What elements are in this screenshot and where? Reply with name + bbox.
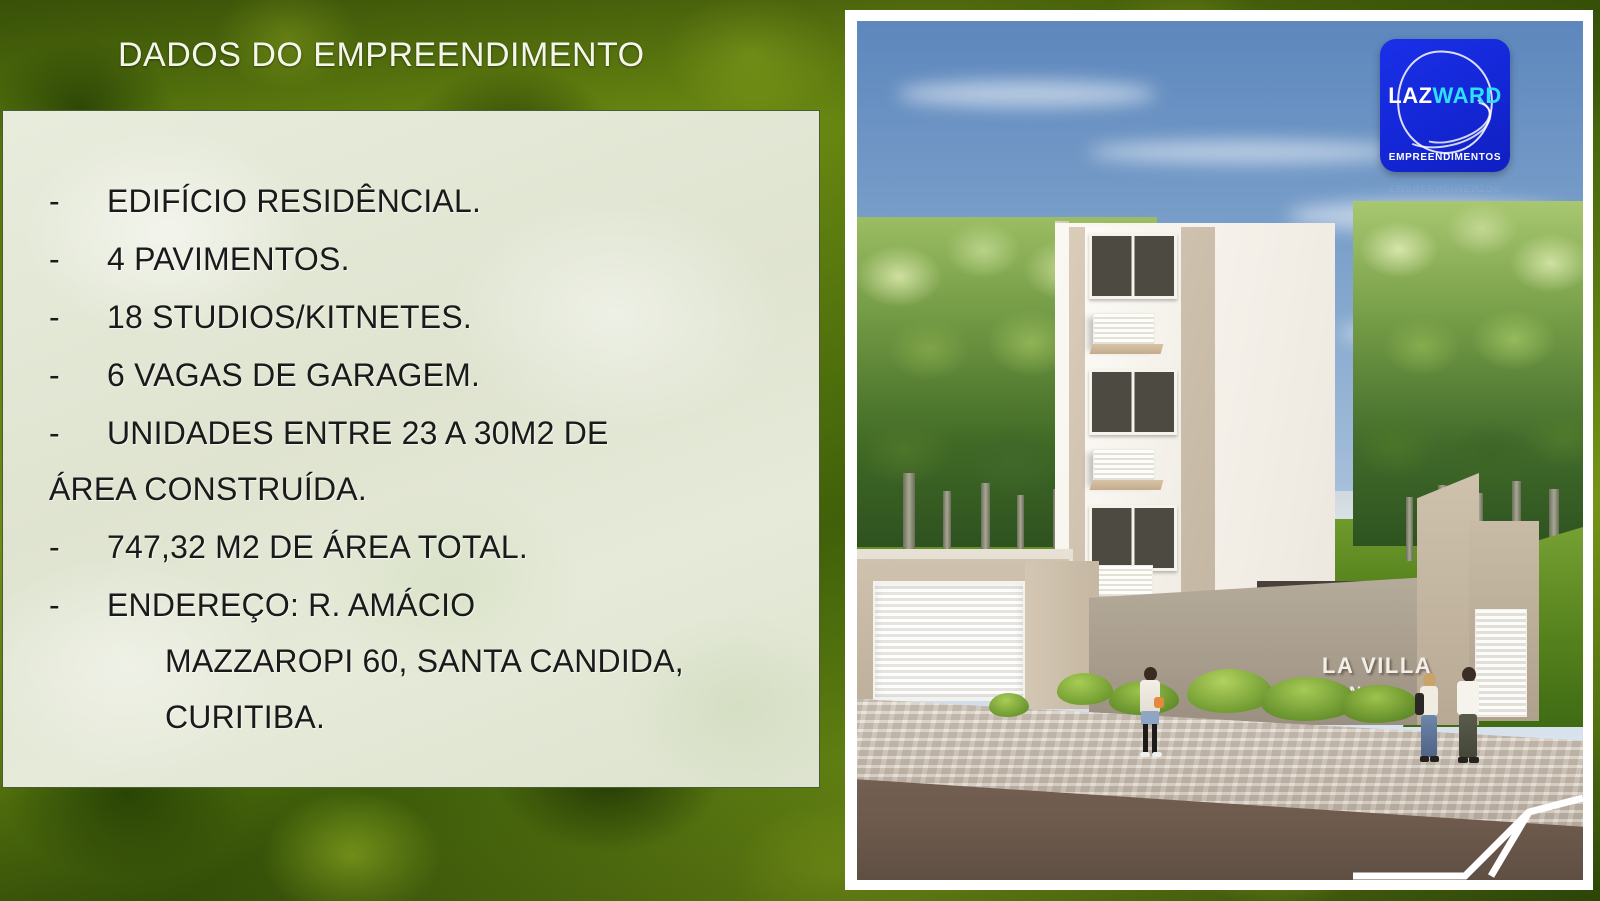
list-item: - 747,32 M2 DE ÁREA TOTAL.: [49, 531, 789, 563]
bullet-marker: -: [49, 243, 107, 275]
details-panel: - EDIFÍCIO RESIDÊNCIAL. - 4 PAVIMENTOS. …: [2, 110, 820, 788]
page-title: DADOS DO EMPREENDIMENTO: [118, 36, 645, 75]
person-bag: [1154, 697, 1164, 708]
tree-trunk: [903, 473, 915, 559]
bullet-marker: -: [49, 301, 107, 333]
tree-trunk: [1406, 497, 1413, 561]
awning-floor4: [1093, 313, 1155, 347]
person-shoe: [1152, 752, 1162, 757]
bullet-text: 6 VAGAS DE GARAGEM.: [107, 359, 789, 391]
bullet-text: UNIDADES ENTRE 23 A 30M2 DE: [107, 415, 609, 451]
garage-door[interactable]: [873, 581, 1025, 701]
bullet-text: 4 PAVIMENTOS.: [107, 243, 789, 275]
awning-floor3: [1093, 449, 1155, 483]
render-scene: LA VILLA N 60: [857, 21, 1583, 880]
shrub: [1187, 669, 1273, 713]
tree-trunk: [981, 483, 990, 559]
list-item: - 4 PAVIMENTOS.: [49, 243, 789, 275]
project-render-image: LA VILLA N 60: [845, 10, 1593, 890]
bullet-text: EDIFÍCIO RESIDÊNCIAL.: [107, 185, 789, 217]
person-shorts: [1141, 711, 1159, 725]
bullet-marker: -: [49, 531, 107, 563]
logo-reflection-text: EMPREENDIMENTOS: [1380, 182, 1510, 193]
logo-text-laz: LAZ: [1388, 83, 1432, 108]
building-name-sign: LA VILLA: [1322, 653, 1432, 679]
shrub: [989, 693, 1029, 717]
bullet-text-line2: ÁREA CONSTRUÍDA.: [49, 473, 789, 505]
window-floor4: [1089, 233, 1177, 299]
cloud: [1087, 141, 1407, 163]
list-item: - ENDEREÇO: R. AMÁCIO MAZZAROPI 60, SANT…: [49, 589, 789, 733]
bullet-text-line2: MAZZAROPI 60, SANTA CANDIDA,: [107, 645, 789, 677]
person-leg: [1143, 724, 1148, 754]
bullet-text-line3: CURITIBA.: [107, 701, 789, 733]
lazward-logo: LAZWARD EMPREENDIMENTOS: [1380, 39, 1510, 172]
bullet-text-group: ENDEREÇO: R. AMÁCIO MAZZAROPI 60, SANTA …: [107, 589, 789, 733]
window-floor3: [1089, 369, 1177, 435]
list-item: - 6 VAGAS DE GARAGEM.: [49, 359, 789, 391]
logo-reflection: EMPREENDIMENTOS: [1380, 173, 1510, 219]
bullet-text: ENDEREÇO: R. AMÁCIO: [107, 587, 475, 623]
person-leg: [1152, 724, 1157, 754]
list-item: - UNIDADES ENTRE 23 A 30M2 DE ÁREA CONST…: [49, 417, 789, 505]
bullet-text: 18 STUDIOS/KITNETES.: [107, 301, 789, 333]
bullet-text-group: UNIDADES ENTRE 23 A 30M2 DE ÁREA CONSTRU…: [107, 417, 789, 505]
cloud: [897, 81, 1157, 107]
corner-frame-decoration: [1353, 680, 1583, 880]
bullet-marker: -: [49, 185, 107, 217]
person-shoe: [1140, 752, 1150, 757]
logo-wordmark: LAZWARD: [1380, 83, 1510, 109]
logo-text-ward: WARD: [1433, 83, 1502, 108]
bullet-marker: -: [49, 417, 107, 449]
bullet-marker: -: [49, 359, 107, 391]
list-item: - 18 STUDIOS/KITNETES.: [49, 301, 789, 333]
bullet-list: - EDIFÍCIO RESIDÊNCIAL. - 4 PAVIMENTOS. …: [3, 111, 819, 787]
person-head: [1144, 667, 1157, 681]
list-item: - EDIFÍCIO RESIDÊNCIAL.: [49, 185, 789, 217]
window-floor2: [1089, 505, 1177, 571]
shrub: [1057, 673, 1113, 705]
bullet-text: 747,32 M2 DE ÁREA TOTAL.: [107, 531, 789, 563]
logo-subtitle: EMPREENDIMENTOS: [1380, 152, 1510, 163]
bullet-marker: -: [49, 589, 107, 621]
header-bar: DADOS DO EMPREENDIMENTO: [0, 0, 840, 108]
awning-floor1: [1091, 565, 1153, 599]
person-figure: [1137, 667, 1163, 757]
